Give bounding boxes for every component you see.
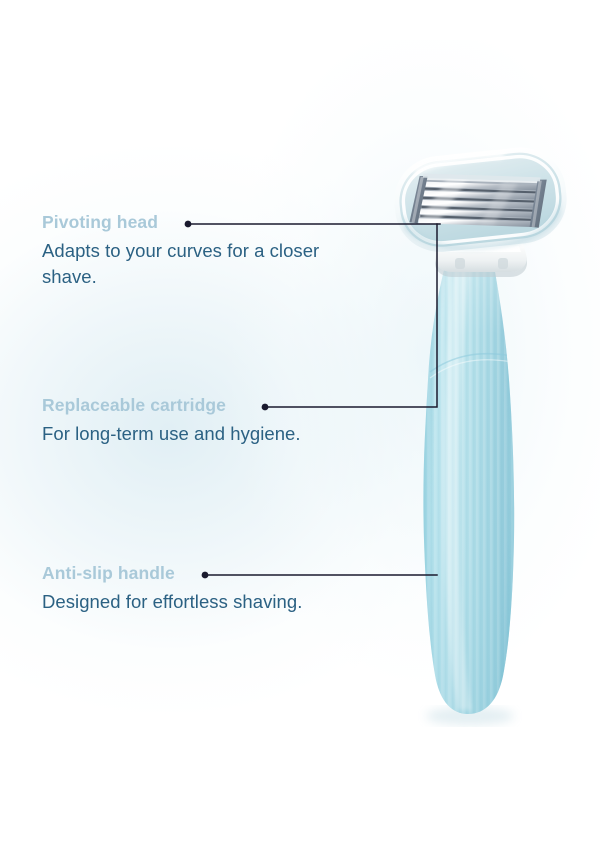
annotation-body: Designed for effortless shaving. [42,589,302,615]
annotation-title: Replaceable cartridge [42,395,301,415]
razor-head [390,143,571,258]
annotation-anti-slip-handle: Anti-slip handle Designed for effortless… [42,563,302,615]
annotation-body: Adapts to your curves for a closer shave… [42,238,362,289]
annotation-title: Pivoting head [42,212,362,232]
infographic-canvas: Pivoting head Adapts to your curves for … [0,0,600,866]
annotation-pivoting-head: Pivoting head Adapts to your curves for … [42,212,362,289]
annotation-body: For long-term use and hygiene. [42,421,301,447]
annotation-replaceable-cartridge: Replaceable cartridge For long-term use … [42,395,301,447]
annotation-title: Anti-slip handle [42,563,302,583]
